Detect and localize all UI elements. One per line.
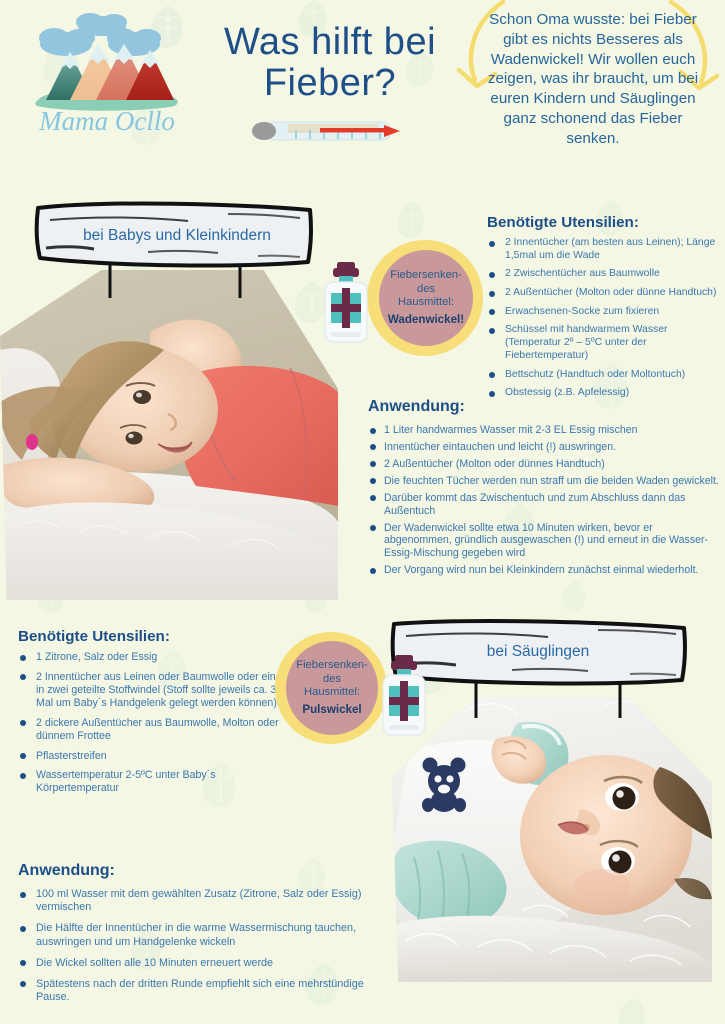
list-item: 2 Außentücher (Molton oder dünnes Handtu… bbox=[368, 458, 720, 471]
utensils-list: 1 Zitrone, Salz oder Essig 2 Innentücher… bbox=[18, 651, 288, 795]
leaf-watermark-icon bbox=[560, 578, 590, 614]
section-utensils-toddlers: Benötigte Utensilien: 2 Innentücher (am … bbox=[487, 214, 719, 406]
list-item: Pflasterstreifen bbox=[18, 750, 288, 763]
list-item: Darüber kommt das Zwischentuch und zum A… bbox=[368, 492, 720, 518]
list-item: Erwachsenen-Socke zum fixieren bbox=[487, 306, 719, 319]
list-item: Der Vorgang wird nun bei Kleinkindern zu… bbox=[368, 564, 720, 577]
list-item: Die Wickel sollten alle 10 Minuten erneu… bbox=[18, 957, 398, 970]
list-item: Die feuchten Tücher werden nun straff um… bbox=[368, 475, 720, 488]
badge-inner: Fiebersenken- des Hausmittel: Wadenwicke… bbox=[379, 250, 473, 346]
photo-toddler bbox=[0, 270, 338, 600]
list-item: Wassertemperatur 2-5ºC unter Baby´s Körp… bbox=[18, 769, 288, 795]
page-title-line2: Fieber? bbox=[180, 63, 480, 104]
leaf-watermark-icon bbox=[616, 996, 650, 1024]
list-item: 2 dickere Außentücher aus Baumwolle, Mol… bbox=[18, 717, 288, 743]
list-item: 1 Zitrone, Salz oder Essig bbox=[18, 651, 288, 664]
list-item: 2 Innentücher (am besten aus Leinen); Lä… bbox=[487, 237, 719, 262]
leaf-watermark-icon bbox=[395, 200, 429, 240]
list-item: Innentücher eintauchen und leicht (!) au… bbox=[368, 441, 720, 454]
page-title-line1: Was hilft bei bbox=[180, 22, 480, 63]
badge-pulswickel: Fiebersenken- des Hausmittel: Pulswickel bbox=[275, 632, 387, 744]
badge-wadenwickel: Fiebersenken- des Hausmittel: Wadenwicke… bbox=[367, 240, 483, 356]
utensils-heading: Benötigte Utensilien: bbox=[18, 628, 288, 645]
list-item: Schüssel mit handwarmem Wasser (Temperat… bbox=[487, 324, 719, 362]
intro-text: Schon Oma wusste: bei Fieber gibt es nic… bbox=[477, 10, 709, 148]
list-item: 2 Zwischentücher aus Baumwolle bbox=[487, 268, 719, 281]
list-item: 2 Innentücher aus Leinen oder Baumwolle … bbox=[18, 671, 288, 710]
logo-wordmark: Mama Ocllo bbox=[38, 106, 175, 136]
infographic-page: Mama Ocllo Was hilft bei Fieber? bbox=[0, 0, 725, 1024]
utensils-list: 2 Innentücher (am besten aus Leinen); Lä… bbox=[487, 237, 719, 400]
badge-line3: Hausmittel: bbox=[304, 686, 360, 700]
list-item: 100 ml Wasser mit dem gewählten Zusatz (… bbox=[18, 888, 398, 914]
badge-line1: Fiebersenken- bbox=[296, 659, 368, 673]
list-item: 2 Außentücher (Molton oder dünne Handtuc… bbox=[487, 287, 719, 300]
section-utensils-infants: Benötigte Utensilien: 1 Zitrone, Salz od… bbox=[18, 628, 288, 802]
badge-line2: des bbox=[323, 673, 341, 687]
application-heading: Anwendung: bbox=[18, 862, 398, 880]
list-item: 1 Liter handwarmes Wasser mit 2-3 EL Ess… bbox=[368, 424, 720, 437]
medicine-bottle-icon bbox=[320, 262, 372, 353]
list-item: Bettschutz (Handtuch oder Moltontuch) bbox=[487, 369, 719, 382]
badge-line1: Fiebersenken- bbox=[390, 269, 462, 283]
badge-inner: Fiebersenken- des Hausmittel: Pulswickel bbox=[286, 641, 378, 735]
badge-line2: des bbox=[417, 283, 435, 297]
section-application-infants: Anwendung: 100 ml Wasser mit dem gewählt… bbox=[18, 862, 398, 1012]
sign-babys-kleinkinder-label: bei Babys und Kleinkindern bbox=[32, 227, 322, 245]
application-heading: Anwendung: bbox=[368, 398, 720, 416]
logo: Mama Ocllo bbox=[22, 8, 192, 138]
page-title: Was hilft bei Fieber? bbox=[180, 22, 480, 104]
application-list: 100 ml Wasser mit dem gewählten Zusatz (… bbox=[18, 888, 398, 1004]
badge-highlight: Pulswickel bbox=[302, 703, 361, 717]
application-list: 1 Liter handwarmes Wasser mit 2-3 EL Ess… bbox=[368, 424, 720, 577]
badge-line3: Hausmittel: bbox=[398, 296, 454, 310]
medicine-bottle-icon bbox=[378, 655, 430, 746]
sign-babys-kleinkinder: bei Babys und Kleinkindern bbox=[28, 196, 318, 301]
section-application-toddlers: Anwendung: 1 Liter handwarmes Wasser mit… bbox=[368, 398, 720, 581]
list-item: Der Wadenwickel sollte etwa 10 Minuten w… bbox=[368, 522, 720, 561]
thermometer-icon bbox=[248, 112, 403, 155]
photo-infant bbox=[392, 697, 712, 982]
list-item: Die Hälfte der Innentücher in die warme … bbox=[18, 922, 398, 948]
list-item: Spätestens nach der dritten Runde empfie… bbox=[18, 978, 398, 1004]
badge-highlight: Wadenwickel! bbox=[388, 313, 464, 327]
utensils-heading: Benötigte Utensilien: bbox=[487, 214, 719, 231]
